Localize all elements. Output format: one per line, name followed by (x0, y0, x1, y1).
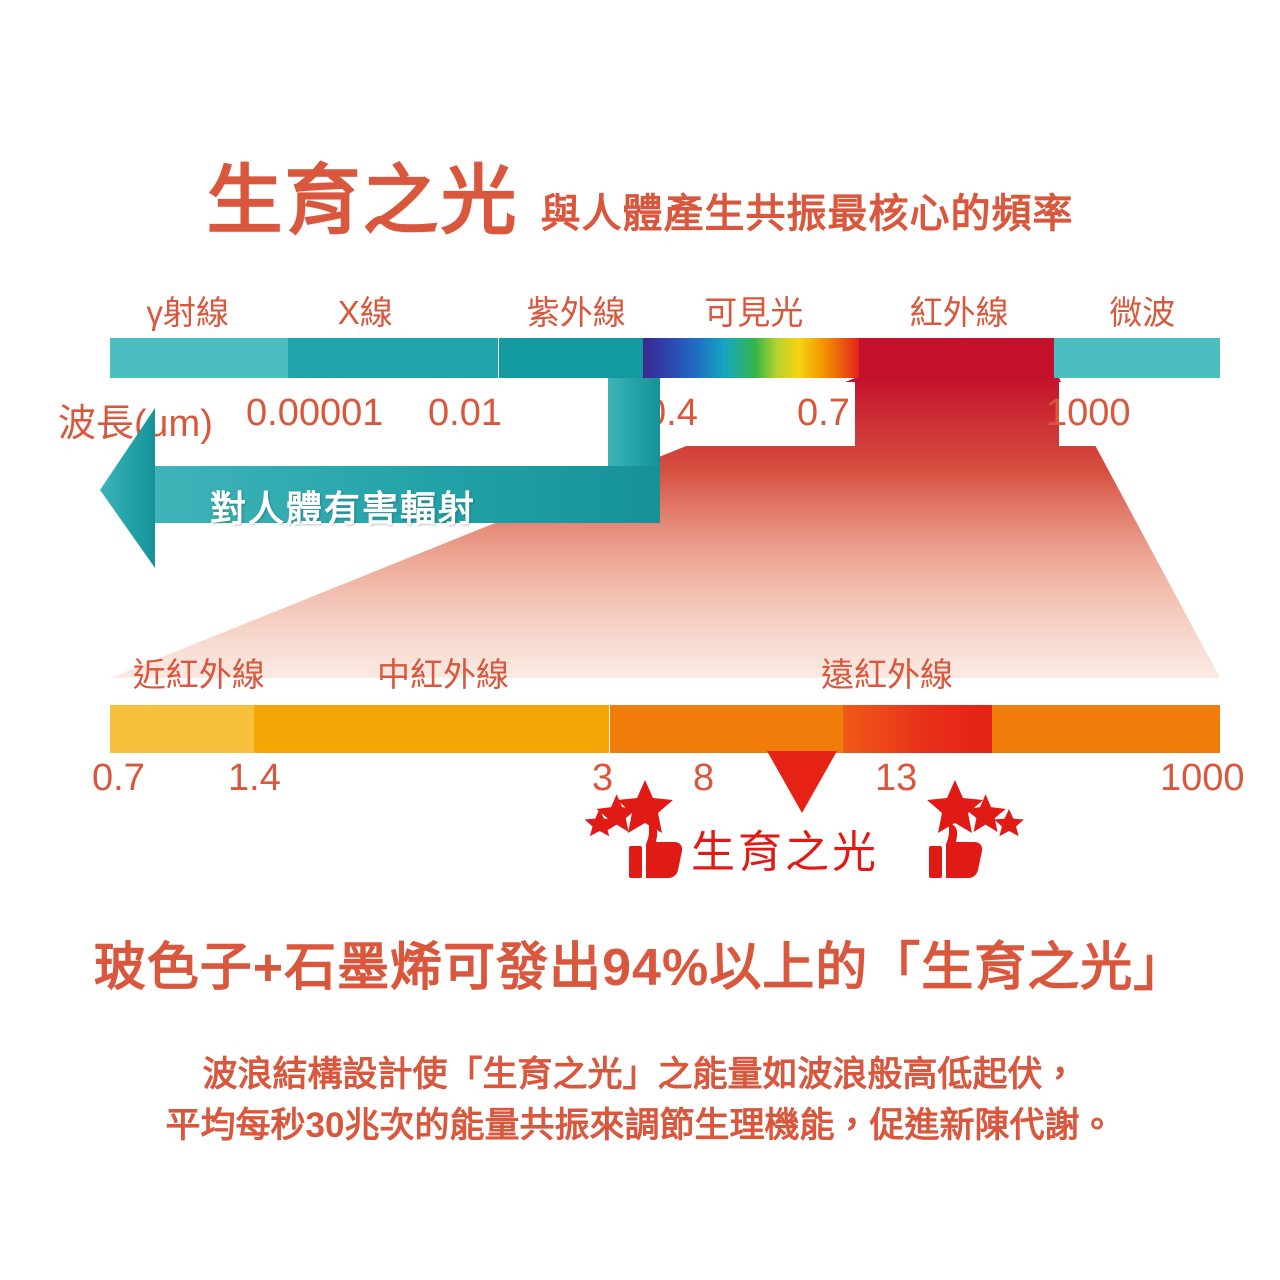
band-xray (288, 338, 499, 378)
band-label-xray: X線 (338, 286, 393, 334)
band-label-visible: 可見光 (704, 286, 803, 334)
wavelength-value-4: 0.7 (797, 392, 850, 435)
ir-tick-1: 0.7 (92, 757, 145, 800)
badge-stars-right (925, 778, 1045, 848)
page-subtitle: 與人體產生共振最核心的頻率 (541, 194, 1074, 240)
footer-paragraph-line-2: 平均每秒30兆次的能量共振來調節生理機能，促進新陳代謝。 (0, 1101, 1280, 1152)
ir-band-mid (254, 705, 609, 753)
ir-label-near: 近紅外線 (133, 648, 265, 696)
ir-spectrum-bar (110, 705, 1220, 753)
title-block: 生育之光 與人體產生共振最核心的頻率 (0, 130, 1280, 240)
band-gamma (110, 338, 288, 378)
top-spectrum-bar (110, 338, 1220, 378)
band-microwave (1054, 338, 1221, 378)
star-icon (927, 780, 983, 833)
harmful-radiation-arrow (100, 378, 660, 568)
ir-band-far-high (992, 705, 1220, 753)
footer-paragraph-line-1: 波浪結構設計使「生育之光」之能量如波浪般高低起伏， (0, 1050, 1280, 1101)
band-uv (499, 338, 643, 378)
harmful-radiation-label: 對人體有害輻射 (210, 480, 476, 532)
band-label-gamma: γ射線 (146, 286, 229, 334)
ir-spectrum-labels: 近紅外線 中紅外線 遠紅外線 (110, 648, 1220, 692)
band-label-uv: 紫外線 (527, 286, 626, 334)
ir-tick-5: 13 (875, 757, 917, 800)
infographic-canvas: 生育之光 與人體產生共振最核心的頻率 γ射線 X線 紫外線 可見光 紅外線 微波 (0, 0, 1280, 1280)
ir-label-mid: 中紅外線 (377, 648, 509, 696)
ir-band-highlight (843, 705, 993, 753)
footer-headline: 玻色子+石墨烯可發出94%以上的「生育之光」 (0, 925, 1280, 1000)
band-label-microwave: 微波 (1109, 286, 1175, 334)
band-visible (643, 338, 859, 378)
top-spectrum-labels: γ射線 X線 紫外線 可見光 紅外線 微波 (110, 286, 1220, 330)
wavelength-value-5: 1000 (1046, 392, 1131, 435)
ir-band-far-low (610, 705, 843, 753)
footer-paragraph: 波浪結構設計使「生育之光」之能量如波浪般高低起伏， 平均每秒30兆次的能量共振來… (0, 1050, 1280, 1152)
ir-tick-6: 1000 (1160, 757, 1245, 800)
page-title: 生育之光 (207, 164, 519, 240)
ir-label-far: 遠紅外線 (821, 648, 953, 696)
band-label-infrared: 紅外線 (910, 286, 1009, 334)
ir-band-near (110, 705, 254, 753)
ir-tick-2: 1.4 (228, 757, 281, 800)
band-infrared (859, 338, 1053, 378)
